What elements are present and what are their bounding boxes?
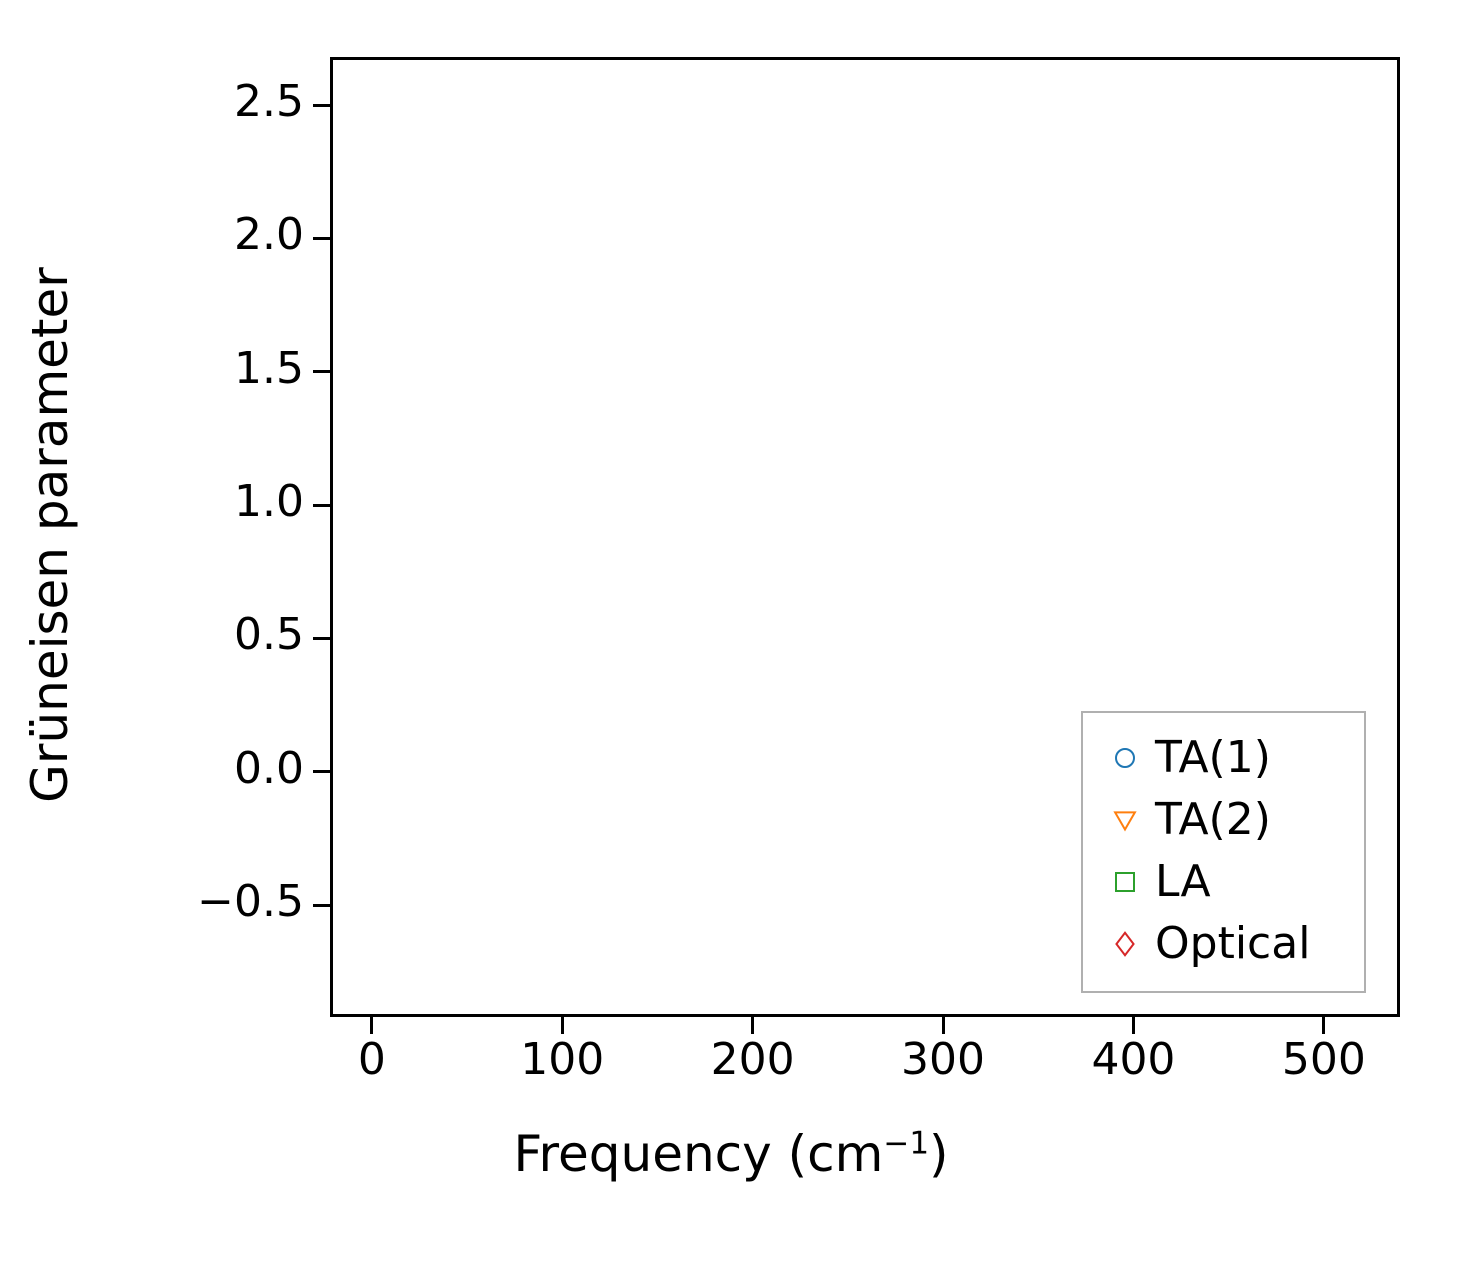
legend-item-label: TA(2)	[1151, 798, 1271, 842]
legend-item-label: LA	[1151, 860, 1211, 904]
x-tick-mark	[1132, 1014, 1135, 1034]
legend-item-ta2[interactable]: TA(2)	[1099, 789, 1354, 851]
x-axis-label-tail: )	[929, 1125, 949, 1183]
circle-icon	[1099, 743, 1151, 773]
legend-item-ta1[interactable]: TA(1)	[1099, 727, 1354, 789]
x-tick-mark	[1322, 1014, 1325, 1034]
x-tick-mark	[561, 1014, 564, 1034]
x-axis-label: Frequency (cm−1)	[0, 1125, 1462, 1183]
legend-item-label: Optical	[1151, 922, 1310, 966]
y-axis-label: Grüneisen parameter	[21, 267, 79, 803]
x-tick-label: 100	[520, 1038, 604, 1082]
y-tick-label: −0.5	[197, 880, 304, 924]
legend-item-optical[interactable]: Optical	[1099, 913, 1354, 975]
x-axis-label-exponent: −1	[883, 1125, 929, 1161]
legend-item-la[interactable]: LA	[1099, 851, 1354, 913]
x-tick-label: 300	[901, 1038, 985, 1082]
triangle-down-icon	[1099, 805, 1151, 835]
x-tick-label: 0	[358, 1038, 386, 1082]
y-tick-label: 0.5	[234, 613, 304, 657]
x-tick-mark	[751, 1014, 754, 1034]
x-axis-label-base: Frequency (cm	[513, 1125, 883, 1183]
x-tick-label: 500	[1282, 1038, 1366, 1082]
y-tick-label: 1.5	[234, 347, 304, 391]
y-tick-label: 1.0	[234, 480, 304, 524]
square-icon	[1099, 867, 1151, 897]
figure: −0.50.00.51.01.52.02.5 0100200300400500 …	[0, 0, 1462, 1264]
legend[interactable]: TA(1)TA(2)LAOptical	[1081, 711, 1366, 993]
diamond-icon	[1099, 929, 1151, 959]
y-tick-label: 2.5	[234, 80, 304, 124]
y-tick-label: 2.0	[234, 213, 304, 257]
x-tick-label: 400	[1091, 1038, 1175, 1082]
x-tick-label: 200	[711, 1038, 795, 1082]
y-axis-label-wrapper: Grüneisen parameter	[21, 55, 79, 1015]
x-tick-mark	[942, 1014, 945, 1034]
x-tick-mark	[370, 1014, 373, 1034]
legend-item-label: TA(1)	[1151, 736, 1271, 780]
y-tick-label: 0.0	[234, 747, 304, 791]
